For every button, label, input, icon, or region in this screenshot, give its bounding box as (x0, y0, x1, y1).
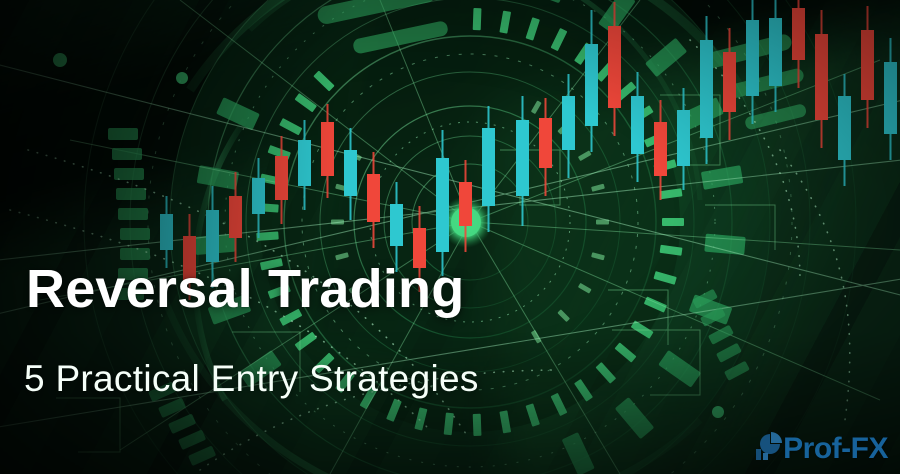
banner-root: Reversal Trading 5 Practical Entry Strat… (0, 0, 900, 474)
pie-chart-icon (755, 428, 785, 462)
foreground-bottom-shade (0, 0, 900, 474)
brand-logo-text: Prof-FX (783, 434, 888, 464)
brand-logo[interactable]: Prof-FX (755, 428, 888, 464)
page-subtitle: 5 Practical Entry Strategies (24, 360, 479, 397)
page-title: Reversal Trading (26, 262, 464, 316)
